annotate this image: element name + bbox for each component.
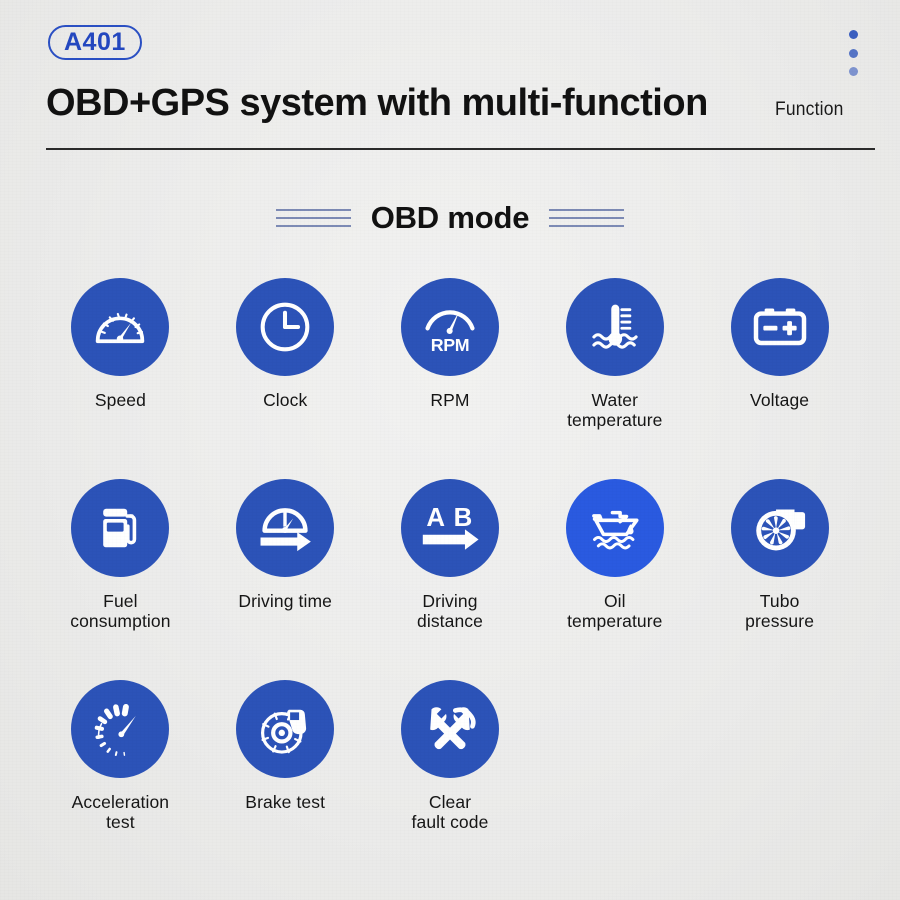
feature-item[interactable]: Clock (203, 278, 368, 477)
a-to-b-arrow-icon: A B (401, 479, 499, 577)
wrench-spanner-icon (401, 680, 499, 778)
page-title: OBD+GPS system with multi-function (46, 82, 708, 125)
feature-item[interactable]: Water temperature (532, 278, 697, 477)
feature-label: RPM (430, 391, 469, 411)
feature-label: Clock (263, 391, 307, 411)
rule-left-icon (276, 209, 351, 227)
thermometer-water-icon (566, 278, 664, 376)
feature-item[interactable]: A B Driving distance (368, 479, 533, 678)
feature-label: Fuel consumption (70, 592, 170, 632)
kebab-menu-icon[interactable] (848, 30, 858, 76)
section-title: OBD mode (371, 200, 530, 236)
section-heading: OBD mode (0, 200, 900, 236)
feature-item[interactable]: RPM RPM (368, 278, 533, 477)
feature-item[interactable]: Fuel consumption (38, 479, 203, 678)
oil-can-icon (566, 479, 664, 577)
feature-label: Oil temperature (567, 592, 662, 632)
speedometer-icon (71, 278, 169, 376)
kebab-dot-2 (849, 49, 858, 58)
turbocharger-icon (731, 479, 829, 577)
feature-label: Driving distance (417, 592, 483, 632)
feature-label: Driving time (238, 592, 332, 612)
feature-label: Acceleration test (72, 793, 170, 833)
feature-label: Tubo pressure (745, 592, 814, 632)
feature-item[interactable]: Tubo pressure (697, 479, 862, 678)
header-divider (46, 148, 875, 150)
feature-item[interactable]: Clear fault code (368, 680, 533, 879)
feature-label: Clear fault code (412, 793, 489, 833)
svg-text:RPM: RPM (431, 335, 470, 355)
feature-item[interactable]: Driving time (203, 479, 368, 678)
feature-item[interactable]: Acceleration test (38, 680, 203, 879)
rpm-gauge-icon: RPM (401, 278, 499, 376)
kebab-dot-1 (849, 30, 858, 39)
feature-label: Brake test (245, 793, 325, 813)
fuel-pump-icon (71, 479, 169, 577)
feature-label: Speed (95, 391, 146, 411)
svg-text:A: A (426, 504, 445, 532)
brake-disc-icon (236, 680, 334, 778)
battery-icon (731, 278, 829, 376)
model-badge: A401 (48, 25, 142, 60)
gauge-arrow-icon (236, 479, 334, 577)
feature-label: Water temperature (567, 391, 662, 431)
rule-right-icon (549, 209, 624, 227)
feature-grid: Speed Clock RPM RPM (38, 278, 862, 879)
feature-label: Voltage (750, 391, 809, 411)
feature-item[interactable]: Brake test (203, 680, 368, 879)
feature-item[interactable]: Speed (38, 278, 203, 477)
page-header: A401 OBD+GPS system with multi-function … (0, 0, 900, 160)
clock-icon (236, 278, 334, 376)
feature-item[interactable]: Oil temperature (532, 479, 697, 678)
feature-item[interactable]: Voltage (697, 278, 862, 477)
kebab-dot-3 (849, 67, 858, 76)
product-feature-page: A401 OBD+GPS system with multi-function … (0, 0, 900, 900)
svg-text:B: B (454, 504, 473, 532)
model-badge-label: A401 (64, 30, 126, 55)
function-label: Function (775, 99, 844, 121)
acceleration-gauge-icon (71, 680, 169, 778)
